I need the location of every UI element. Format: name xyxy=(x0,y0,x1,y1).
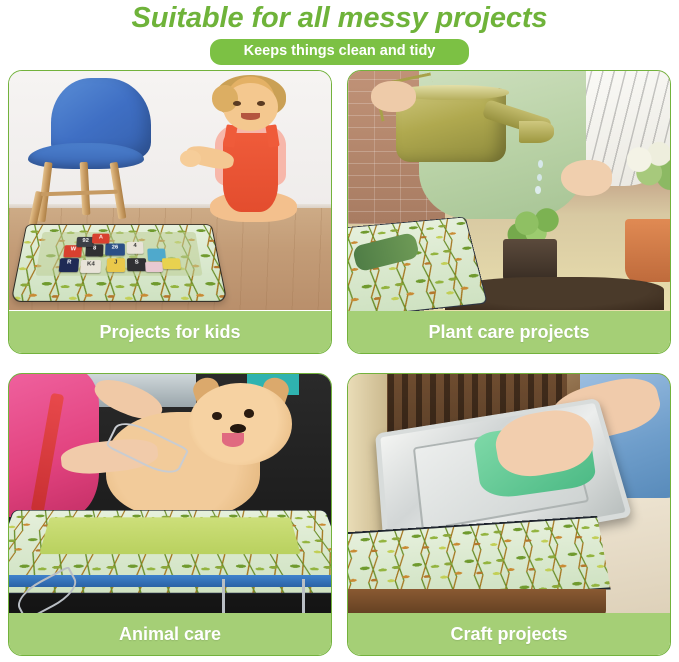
subtitle-pill-wrapper: Keeps things clean and tidy xyxy=(0,39,679,65)
panel-plant-care-projects[interactable]: Plant care projects xyxy=(347,70,671,354)
panel-photo-kids: W 8 26 4 92 A R K4 J S xyxy=(9,71,331,311)
panel-photo-craft xyxy=(348,374,670,614)
panel-caption-craft: Craft projects xyxy=(348,613,670,655)
water-droplet-icon xyxy=(537,174,542,181)
toy-block: W xyxy=(63,246,82,258)
dog-nose xyxy=(230,424,246,434)
panel-animal-care[interactable]: Animal care xyxy=(8,373,332,657)
scene-plant xyxy=(348,71,670,311)
dog-eye-left xyxy=(212,412,222,420)
panel-projects-for-kids[interactable]: W 8 26 4 92 A R K4 J S xyxy=(8,70,332,354)
toy-block: A xyxy=(92,234,109,244)
panel-caption-label: Projects for kids xyxy=(99,322,240,342)
header: Suitable for all messy projects Keeps th… xyxy=(0,0,679,65)
panel-caption-label: Plant care projects xyxy=(428,322,589,342)
panel-caption-label: Animal care xyxy=(119,624,221,644)
hand-holding-can xyxy=(371,81,416,112)
toy-block xyxy=(144,262,163,272)
dog-tongue xyxy=(222,433,245,446)
baby-hair-curl xyxy=(212,85,238,111)
panel-caption-label: Craft projects xyxy=(450,624,567,644)
baby-eye-right xyxy=(257,101,265,106)
toy-block xyxy=(162,259,181,270)
toy-block: R xyxy=(58,259,79,272)
toy-block: 26 xyxy=(105,243,125,255)
dog-eye-right xyxy=(244,409,254,417)
scene-animal xyxy=(9,374,331,614)
table-legs xyxy=(222,579,306,613)
subtitle-pill: Keeps things clean and tidy xyxy=(210,39,470,65)
white-flowers xyxy=(606,138,670,210)
panel-photo-animal xyxy=(9,374,331,614)
leaf-pattern-mat: W 8 26 4 92 A R K4 J S xyxy=(10,224,227,302)
scene-kids: W 8 26 4 92 A R K4 J S xyxy=(9,71,331,311)
hand-tending-plant xyxy=(561,160,613,196)
toy-block: 4 xyxy=(126,242,144,254)
page-title: Suitable for all messy projects xyxy=(0,2,679,34)
panel-caption-kids: Projects for kids xyxy=(9,311,331,353)
panel-photo-plant xyxy=(348,71,670,311)
baby-eye-left xyxy=(233,101,241,106)
toy-block: J xyxy=(106,259,124,272)
baby-hand xyxy=(180,150,201,167)
panel-caption-plant: Plant care projects xyxy=(348,311,670,353)
water-droplet-icon xyxy=(538,160,543,168)
panel-craft-projects[interactable]: Craft projects xyxy=(347,373,671,657)
watering-can-spout-tip xyxy=(519,121,554,143)
scene-craft xyxy=(348,374,670,614)
toy-block: K4 xyxy=(80,260,101,273)
terracotta-pot xyxy=(625,219,670,281)
product-feature-graphic: Suitable for all messy projects Keeps th… xyxy=(0,0,679,662)
panel-grid: W 8 26 4 92 A R K4 J S xyxy=(8,70,671,656)
mat-inner-surface xyxy=(39,518,301,555)
wooden-table xyxy=(348,589,606,613)
panel-caption-animal: Animal care xyxy=(9,613,331,655)
toy-block: S xyxy=(126,258,146,271)
